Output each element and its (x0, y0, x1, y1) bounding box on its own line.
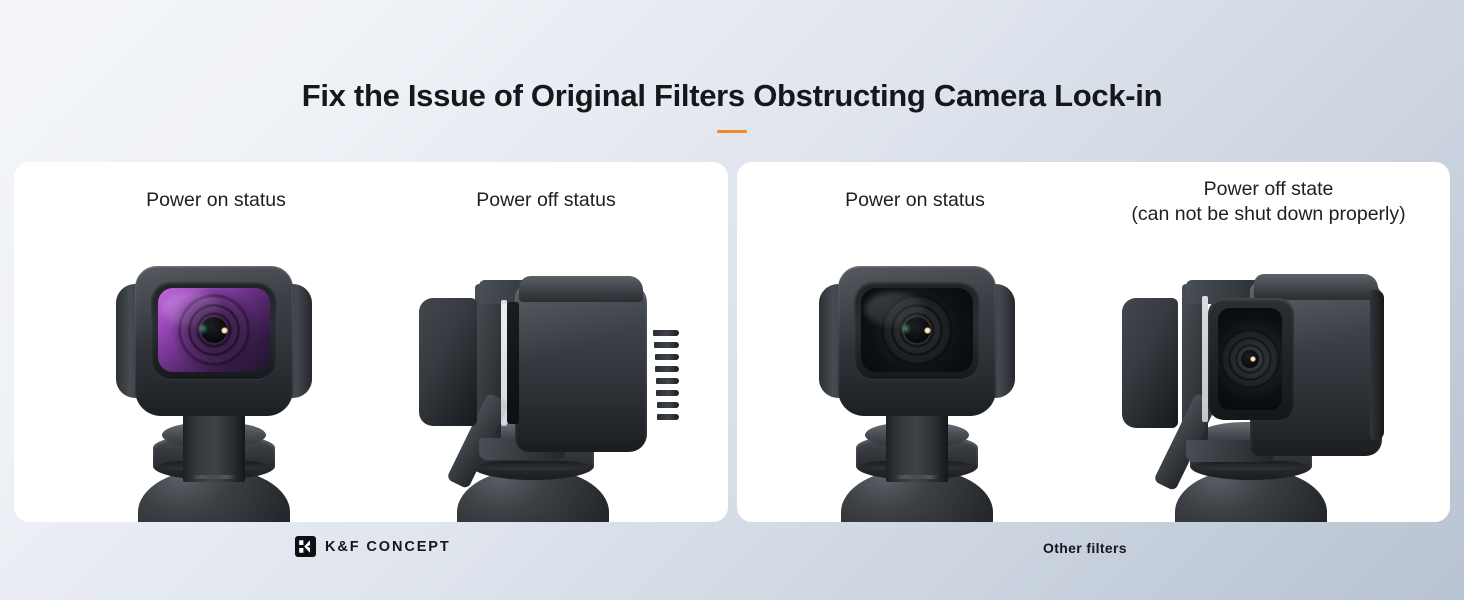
heatsink-fin (655, 354, 679, 360)
camera-head (116, 266, 312, 416)
heatsink-fin (655, 366, 679, 372)
heatsink-fin (657, 402, 679, 408)
camera-body-top-cap (1254, 274, 1378, 300)
heatsink-fin (653, 330, 679, 336)
camera-lens-barrel-side (1122, 298, 1178, 428)
product-camera-side-locked-in (419, 234, 679, 522)
panel-label-other-power-on: Power on status (737, 188, 1093, 213)
kf-logo-icon (295, 536, 316, 557)
camera-body-top-cap (519, 276, 643, 302)
heatsink-fin (657, 414, 679, 420)
product-camera-front-plain-lens (817, 244, 1017, 522)
panel-label-kf-power-on: Power on status (14, 188, 418, 213)
title-accent-bar (717, 130, 747, 133)
comparison-card-kf: Power on status Power off status (14, 162, 728, 522)
brand-name: K&F CONCEPT (325, 539, 451, 555)
panel-label-line1: Power off state (1087, 177, 1450, 202)
page-header: Fix the Issue of Original Filters Obstru… (0, 78, 1464, 133)
lens-bezel (151, 281, 277, 379)
product-camera-side-not-locked-in (1122, 234, 1402, 522)
product-camera-front-purple-filter (114, 244, 314, 522)
camera-head (819, 266, 1015, 416)
obstructed-lens-glass (1218, 308, 1282, 410)
brand-kf-concept: K&F CONCEPT (295, 536, 451, 557)
camera-body-side (515, 284, 647, 452)
heatsink-fin (654, 342, 679, 348)
page-title: Fix the Issue of Original Filters Obstru… (0, 78, 1464, 114)
camera-body-right-edge (1370, 290, 1384, 440)
panel-label-line2: (can not be shut down properly) (1087, 202, 1450, 227)
lens-bezel (854, 281, 980, 379)
camera-pedestal (1175, 468, 1327, 522)
purple-filter-glass (158, 288, 270, 372)
camera-vent-strip (507, 302, 519, 424)
camera-lens-glass (861, 288, 973, 372)
panel-label-kf-power-off: Power off status (364, 188, 728, 213)
panel-label-other-power-off: Power off state (can not be shut down pr… (1087, 177, 1450, 227)
camera-pedestal (457, 468, 609, 522)
comparison-card-other: Power on status Power off state (can not… (737, 162, 1450, 522)
lens-gap-highlight (1202, 296, 1208, 422)
heatsink-fin (656, 378, 679, 384)
other-filters-caption: Other filters (1043, 540, 1127, 556)
camera-lens-barrel-side (419, 298, 477, 426)
heatsink-fin (656, 390, 679, 396)
lens-gap-highlight (501, 300, 507, 426)
